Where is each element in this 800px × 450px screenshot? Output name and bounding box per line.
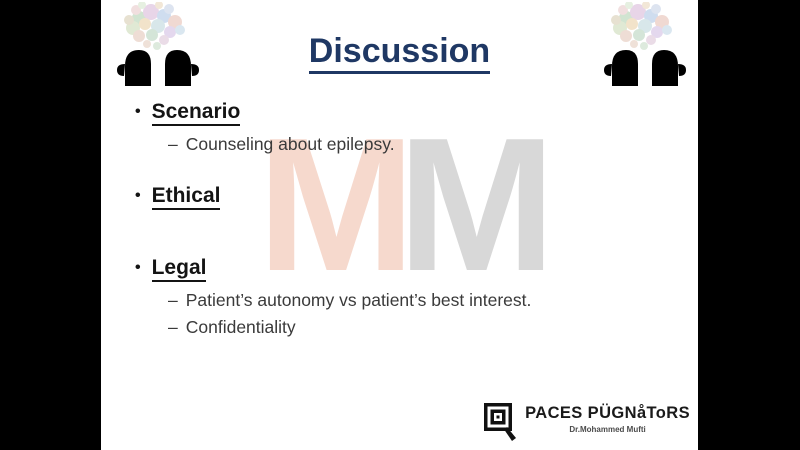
video-frame: M M — [0, 0, 800, 450]
bullet-group-legal: • Legal – Patient’s autonomy vs patient’… — [101, 256, 698, 338]
sub-bullet-item: – Counseling about epilepsy. — [101, 134, 698, 155]
sub-bullet-text: Counseling about epilepsy. — [186, 134, 395, 155]
bullet-label: Ethical — [152, 184, 221, 210]
bullet-group-scenario: • Scenario – Counseling about epilepsy. — [101, 100, 698, 155]
bullet-group-ethical: • Ethical — [101, 184, 698, 210]
bullet-marker: • — [135, 260, 141, 276]
sub-bullet-text: Patient’s autonomy vs patient’s best int… — [186, 290, 532, 311]
bullet-item: • Ethical — [101, 184, 698, 210]
sub-bullet-marker: – — [168, 290, 178, 311]
slide-title: Discussion — [101, 32, 698, 71]
sub-bullet-text: Confidentiality — [186, 317, 296, 338]
bullet-item: • Scenario — [101, 100, 698, 126]
sub-bullet-item: – Patient’s autonomy vs patient’s best i… — [101, 290, 698, 311]
bullet-marker: • — [135, 188, 141, 204]
sub-bullet-marker: – — [168, 317, 178, 338]
bullet-item: • Legal — [101, 256, 698, 282]
sub-bullet-item: – Confidentiality — [101, 317, 698, 338]
magnifier-square-icon — [483, 402, 519, 442]
bullet-label: Scenario — [152, 100, 241, 126]
bullet-label: Legal — [152, 256, 207, 282]
presentation-slide: M M — [101, 0, 698, 450]
paces-pugnators-logo: PACES PÜGNåToRS Dr.Mohammed Mufti — [483, 402, 690, 442]
slide-title-text: Discussion — [309, 32, 490, 74]
logo-subtitle: Dr.Mohammed Mufti — [525, 425, 690, 435]
bullet-marker: • — [135, 104, 141, 120]
slide-body: • Scenario – Counseling about epilepsy. … — [101, 100, 698, 338]
sub-bullet-marker: – — [168, 134, 178, 155]
logo-name: PACES PÜGNåToRS — [525, 405, 690, 422]
